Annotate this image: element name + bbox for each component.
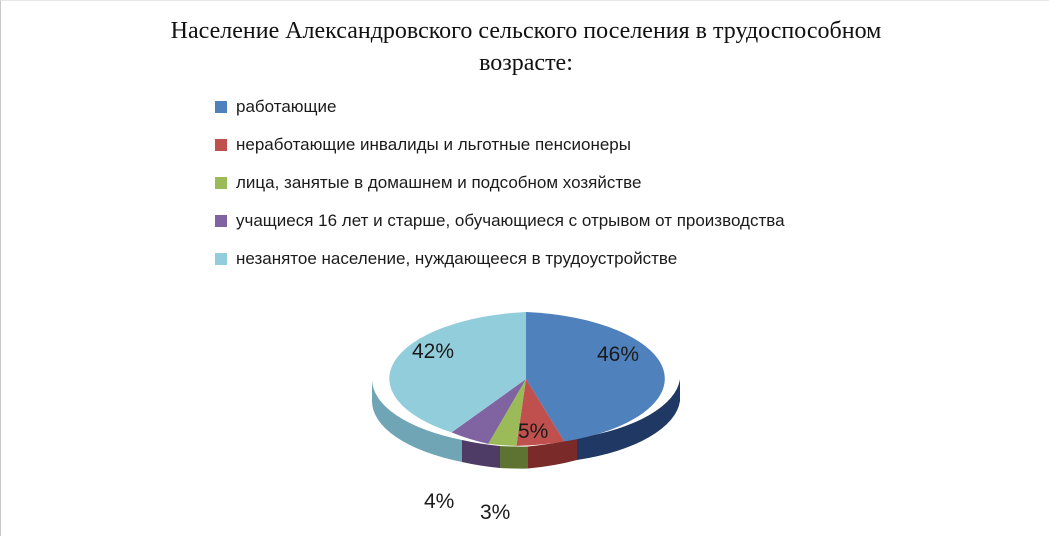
legend-item-uchashchiesya[interactable]: учащиеся 16 лет и старше, обучающиеся с …	[215, 211, 915, 249]
chart-page: Население Александровского сельского пос…	[0, 0, 1049, 536]
pie-value-label-uchashchiesya: 4%	[424, 490, 454, 514]
legend-swatch-icon-purple	[215, 215, 227, 227]
legend-item-nezanyatoe-naselenie[interactable]: незанятое население, нуждающееся в трудо…	[215, 249, 915, 287]
legend-item-label: учащиеся 16 лет и старше, обучающиеся с …	[236, 211, 785, 231]
legend-item-label: неработающие инвалиды и льготные пенсион…	[236, 135, 631, 155]
legend-item-label: работающие	[236, 97, 336, 117]
pie-value-label-domashnee-hozyaystvo: 3%	[480, 501, 510, 525]
legend-item-label: незанятое население, нуждающееся в трудо…	[236, 249, 677, 269]
legend-item-domashnee-hozyaystvo[interactable]: лица, занятые в домашнем и подсобном хоз…	[215, 173, 915, 211]
legend-item-label: лица, занятые в домашнем и подсобном хоз…	[236, 173, 641, 193]
legend-swatch-icon-blue	[215, 101, 227, 113]
chart-legend: работающие неработающие инвалиды и льгот…	[215, 97, 915, 287]
legend-swatch-icon-red	[215, 139, 227, 151]
pie-value-label-nezanyatoe-naselenie: 42%	[412, 340, 454, 364]
pie-value-label-nerabotayushchie-invalidy: 5%	[518, 420, 548, 444]
pie-value-label-rabotayushchie: 46%	[597, 343, 639, 367]
legend-item-rabotayushchie[interactable]: работающие	[215, 97, 915, 135]
page-title: Население Александровского сельского пос…	[131, 15, 921, 79]
legend-swatch-icon-light-blue	[215, 253, 227, 265]
legend-swatch-icon-green	[215, 177, 227, 189]
pie-side-green	[500, 446, 528, 469]
legend-item-nerabotayushchie-invalidy[interactable]: неработающие инвалиды и льготные пенсион…	[215, 135, 915, 173]
